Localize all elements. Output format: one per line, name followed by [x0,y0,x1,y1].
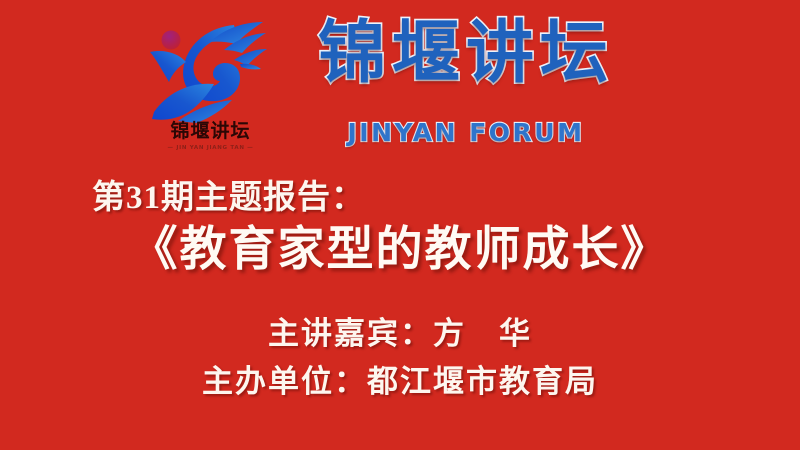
speaker-line: 主讲嘉宾：方 华 [0,318,800,349]
brand-title-en: JINYAN FORUM [286,118,646,147]
logo-wordmark-pinyin: — JIN YAN JIANG TAN — [148,146,273,152]
forum-logo: 锦堰讲坛 — JIN YAN JIANG TAN — [148,20,273,168]
phoenix-bird-emblem-icon [148,20,273,124]
host-organization-line: 主办单位：都江堰市教育局 [0,366,800,397]
brand-title-cn: 锦堰讲坛 [286,14,646,94]
title-slide: 锦堰讲坛 — JIN YAN JIANG TAN — 锦堰讲坛 JINYAN F… [0,0,800,450]
brand-title-block: 锦堰讲坛 JINYAN FORUM [286,14,646,164]
logo-wordmark-cn: 锦堰讲坛 [148,122,273,141]
issue-label: 第31期主题报告： [92,182,365,215]
report-title: 《教育家型的教师成长》 [0,227,800,274]
slide-header: 锦堰讲坛 — JIN YAN JIANG TAN — 锦堰讲坛 JINYAN F… [0,14,800,164]
slide-body: 第31期主题报告： 《教育家型的教师成长》 主讲嘉宾：方 华 主办单位：都江堰市… [0,170,800,420]
